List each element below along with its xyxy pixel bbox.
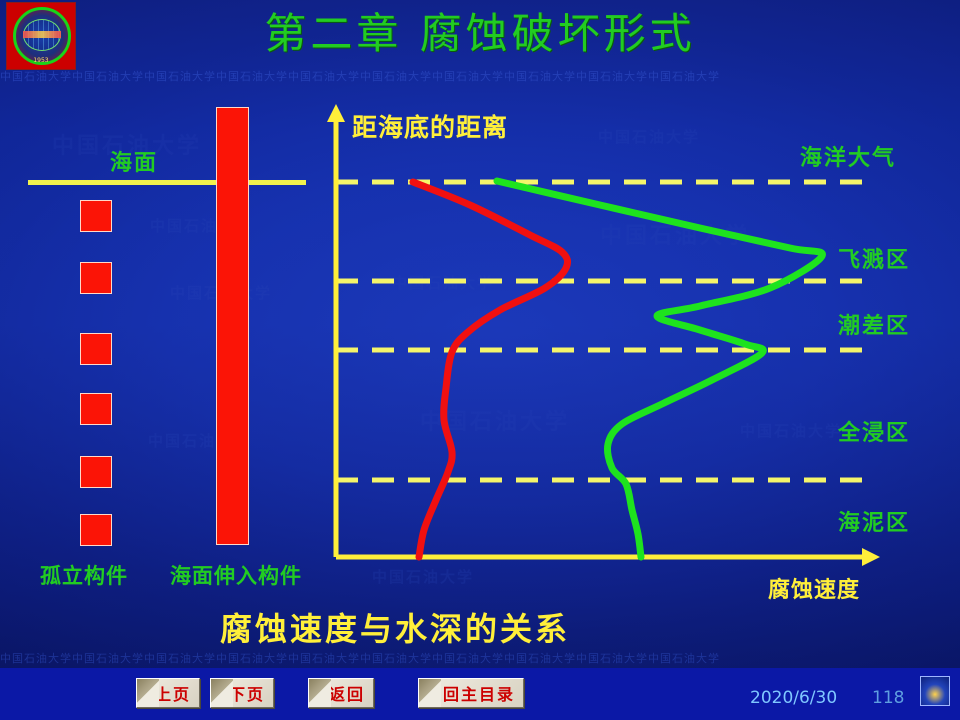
back-button[interactable]: 返回 bbox=[308, 678, 374, 708]
zone-label-splash: 飞溅区 bbox=[838, 242, 910, 274]
zone-label-marine-atmosphere: 海洋大气 bbox=[800, 140, 896, 172]
chart-series bbox=[413, 181, 822, 557]
chart-axes bbox=[327, 104, 880, 566]
slide-date: 2020/6/30 bbox=[750, 688, 837, 708]
prev-page-button[interactable]: 上页 bbox=[136, 678, 200, 708]
main-menu-button[interactable]: 回主目录 bbox=[418, 678, 524, 708]
chart-caption: 腐蚀速度与水深的关系 bbox=[0, 604, 790, 650]
y-axis-label: 距海底的距离 bbox=[352, 108, 508, 144]
slide-canvas: 中国石油大学 中国石油大学 中国石油大学 中国石油大学 中国石油大学 中国石油大… bbox=[0, 0, 960, 720]
zone-boundary-gridlines bbox=[336, 182, 870, 480]
presentation-icon bbox=[920, 676, 950, 706]
zone-label-tidal: 潮差区 bbox=[838, 308, 910, 340]
zone-label-mud: 海泥区 bbox=[838, 505, 910, 537]
page-number: 118 bbox=[872, 688, 904, 708]
x-axis-label: 腐蚀速度 bbox=[768, 572, 860, 604]
zone-label-submerged: 全浸区 bbox=[838, 415, 910, 447]
next-page-button[interactable]: 下页 bbox=[210, 678, 274, 708]
